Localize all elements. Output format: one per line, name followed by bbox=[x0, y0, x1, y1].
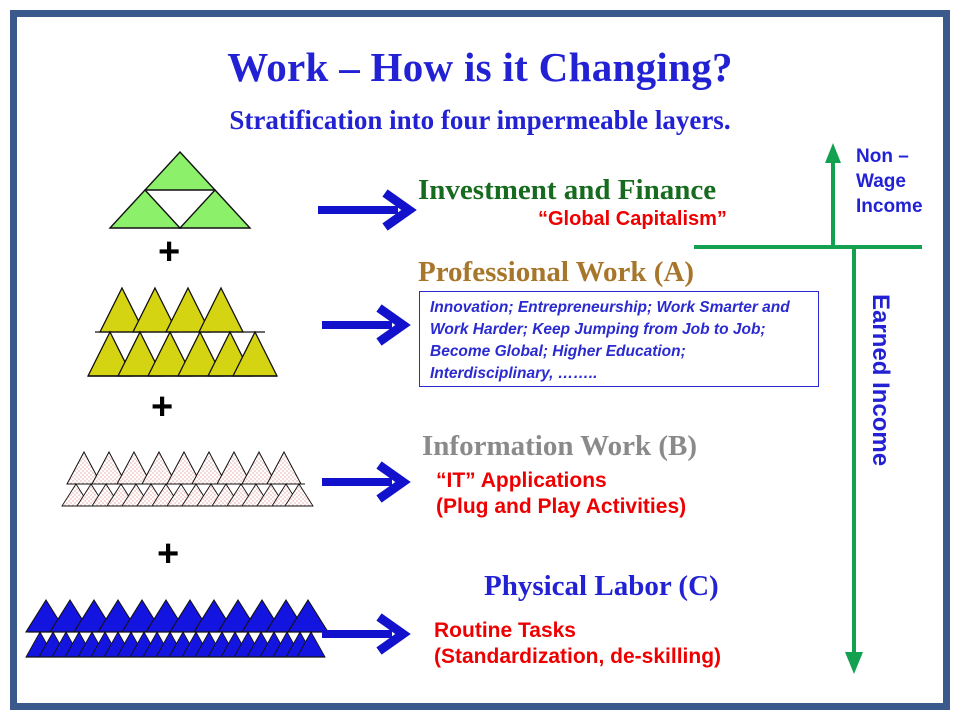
page-subtitle: Stratification into four impermeable lay… bbox=[0, 105, 960, 136]
tier-heading-professional: Professional Work (A) bbox=[418, 256, 694, 289]
tier-sub-physical-line2: (Standardization, de-skilling) bbox=[434, 644, 721, 670]
non-wage-income-line2: Wage bbox=[856, 169, 952, 194]
professional-work-textbox-content: Innovation; Entrepreneurship; Work Smart… bbox=[430, 297, 812, 385]
non-wage-income-line1: Non – bbox=[856, 144, 952, 169]
plus-sign-1: + bbox=[158, 233, 180, 271]
tier-heading-investment: Investment and Finance bbox=[418, 174, 716, 207]
plus-sign-2: + bbox=[151, 388, 173, 426]
tier-sub-information-line2: (Plug and Play Activities) bbox=[436, 494, 686, 520]
plus-sign-3: + bbox=[157, 535, 179, 573]
tier-heading-physical: Physical Labor (C) bbox=[484, 570, 719, 603]
tier-sub-physical: Routine Tasks (Standardization, de-skill… bbox=[434, 618, 721, 671]
tier-sub-physical-line1: Routine Tasks bbox=[434, 618, 721, 644]
earned-income-label: Earned Income bbox=[866, 294, 894, 524]
non-wage-income-label: Non – Wage Income bbox=[856, 144, 952, 219]
page-title: Work – How is it Changing? bbox=[0, 43, 960, 91]
professional-work-textbox: Innovation; Entrepreneurship; Work Smart… bbox=[419, 291, 819, 387]
slide-canvas: Work – How is it Changing? Stratificatio… bbox=[0, 0, 960, 720]
non-wage-income-line3: Income bbox=[856, 194, 952, 219]
tier-heading-information: Information Work (B) bbox=[422, 430, 697, 463]
tier-sub-information-line1: “IT” Applications bbox=[436, 468, 686, 494]
tier-sub-investment: “Global Capitalism” bbox=[538, 207, 727, 232]
tier-sub-information: “IT” Applications (Plug and Play Activit… bbox=[436, 468, 686, 521]
